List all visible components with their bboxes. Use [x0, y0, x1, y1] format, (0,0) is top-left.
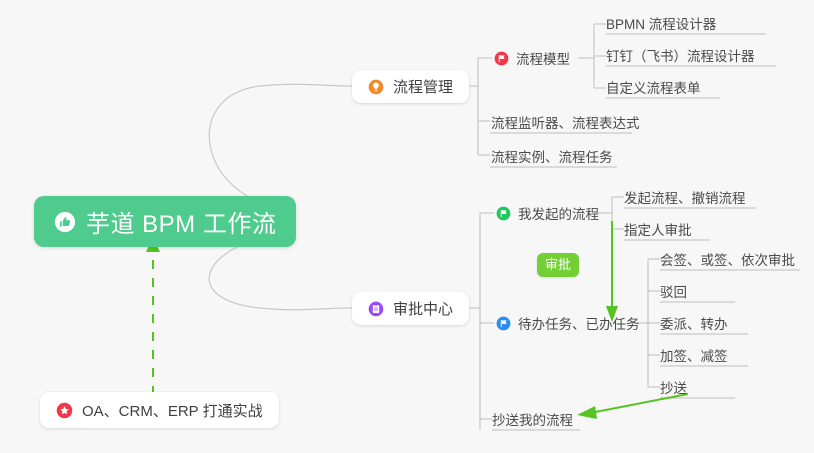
subnode-todo-done-tasks[interactable]: 待办任务、已办任务	[496, 313, 640, 333]
branch-label-approval-center: 审批中心	[393, 298, 453, 319]
leaf-label-add-remove-sign: 加签、减签	[660, 345, 728, 365]
leaf-process-instance[interactable]: 流程实例、流程任务	[491, 146, 613, 166]
lightbulb-icon	[368, 79, 384, 95]
leaf-label-reject: 驳回	[660, 281, 687, 301]
footer-node-label: OA、CRM、ERP 打通实战	[82, 400, 263, 421]
leaf-add-remove-sign[interactable]: 加签、减签	[660, 345, 728, 365]
branch-label-process-management: 流程管理	[393, 76, 453, 97]
approval-annotation-badge: 审批	[537, 253, 579, 277]
leaf-label-assignee-approve: 指定人审批	[624, 219, 692, 239]
root-node[interactable]: 芋道 BPM 工作流	[34, 196, 296, 247]
leaf-reject[interactable]: 驳回	[660, 281, 687, 301]
leaf-label-cc-to-me: 抄送我的流程	[492, 409, 573, 429]
approval-badge-label: 审批	[545, 257, 571, 272]
flag-icon-red	[494, 51, 509, 66]
leaf-label-countersign: 会签、或签、依次审批	[660, 249, 795, 269]
leaf-label-process-instance: 流程实例、流程任务	[491, 146, 613, 166]
leaf-label-process-listener: 流程监听器、流程表达式	[491, 112, 640, 132]
mindmap-canvas: 芋道 BPM 工作流 流程管理 流程模型 BPMN 流程设计器 钉钉（飞书）流程	[0, 0, 814, 453]
leaf-label-cc: 抄送	[660, 377, 687, 397]
leaf-process-listener[interactable]: 流程监听器、流程表达式	[491, 112, 640, 132]
subnode-label-todo-done-tasks: 待办任务、已办任务	[518, 313, 640, 333]
leaf-custom-form[interactable]: 自定义流程表单	[606, 77, 701, 97]
leaf-label-dingtalk-designer: 钉钉（飞书）流程设计器	[606, 45, 755, 65]
subnode-label-my-initiated: 我发起的流程	[518, 203, 599, 223]
flag-icon-green	[496, 206, 511, 221]
leaf-countersign[interactable]: 会签、或签、依次审批	[660, 249, 795, 269]
leaf-cc[interactable]: 抄送	[660, 377, 687, 397]
subnode-label-process-model: 流程模型	[516, 48, 570, 68]
leaf-cc-to-me[interactable]: 抄送我的流程	[492, 409, 573, 429]
subnode-my-initiated[interactable]: 我发起的流程	[496, 203, 599, 223]
arrow-cc-head	[577, 406, 597, 419]
footer-node-integration[interactable]: OA、CRM、ERP 打通实战	[40, 392, 279, 428]
subnode-process-model[interactable]: 流程模型	[494, 48, 570, 68]
thumbs-up-icon	[54, 211, 76, 233]
leaf-label-start-cancel-process: 发起流程、撤销流程	[624, 187, 746, 207]
leaf-label-bpmn-designer: BPMN 流程设计器	[606, 13, 716, 33]
wire-root-to-process-management	[209, 84, 352, 208]
leaf-assignee-approve[interactable]: 指定人审批	[624, 219, 692, 239]
clipboard-icon	[368, 301, 384, 317]
leaf-start-cancel-process[interactable]: 发起流程、撤销流程	[624, 187, 746, 207]
flag-icon-blue	[496, 316, 511, 331]
branch-node-approval-center[interactable]: 审批中心	[352, 292, 469, 325]
leaf-label-custom-form: 自定义流程表单	[606, 77, 701, 97]
leaf-delegate-transfer[interactable]: 委派、转办	[660, 313, 728, 333]
star-icon	[56, 402, 73, 419]
branch-node-process-management[interactable]: 流程管理	[352, 70, 469, 103]
leaf-dingtalk-designer[interactable]: 钉钉（飞书）流程设计器	[606, 45, 755, 65]
leaf-bpmn-designer[interactable]: BPMN 流程设计器	[606, 13, 716, 33]
root-label: 芋道 BPM 工作流	[86, 204, 276, 239]
leaf-label-delegate-transfer: 委派、转办	[660, 313, 728, 333]
